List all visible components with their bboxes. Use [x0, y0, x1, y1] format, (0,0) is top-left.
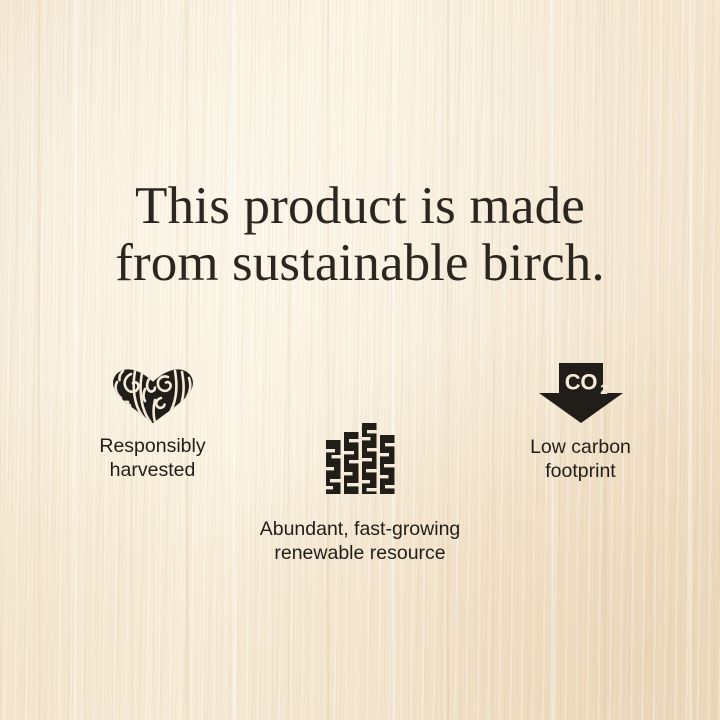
feature-renewable-resource: Abundant, fast-growing renewable resourc… [237, 418, 483, 565]
feature-label-line-2: renewable resource [237, 541, 483, 565]
feature-label-line-1: Abundant, fast-growing [237, 517, 483, 541]
co2-down-arrow-icon: CO 2 [538, 362, 624, 424]
promo-content: This product is made from sustainable bi… [0, 0, 720, 720]
icon-container [237, 418, 483, 494]
feature-label-line-2: footprint [448, 459, 713, 483]
icon-container: CO 2 [448, 362, 713, 424]
co2-icon-text: CO [564, 370, 597, 395]
headline-line-2: from sustainable birch. [0, 235, 720, 292]
wood-logs-bars-icon [325, 422, 395, 494]
feature-label-line-1: Low carbon [448, 435, 713, 459]
co2-icon-subscript: 2 [600, 382, 608, 397]
feature-label: Low carbon footprint [448, 435, 713, 483]
birch-wood-background-panel: This product is made from sustainable bi… [0, 0, 720, 720]
headline-line-1: This product is made [0, 178, 720, 235]
page-title: This product is made from sustainable bi… [0, 178, 720, 292]
feature-low-carbon-footprint: CO 2 Low carbon footprint [448, 362, 713, 483]
woodgrain-heart-icon [111, 368, 195, 424]
icon-container [20, 362, 285, 424]
feature-label: Abundant, fast-growing renewable resourc… [237, 517, 483, 565]
